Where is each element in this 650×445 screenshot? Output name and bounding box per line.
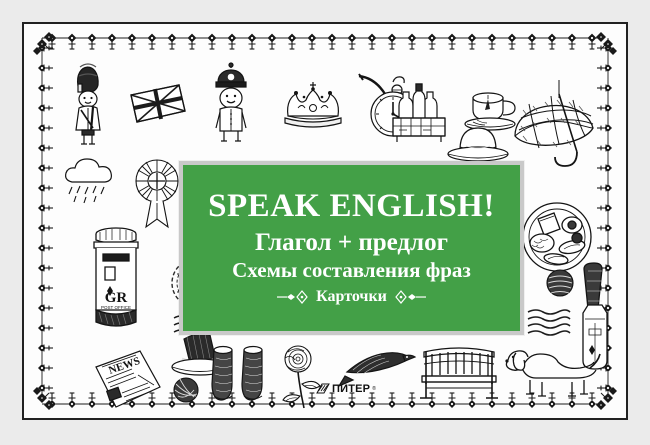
publisher-trademark: ®	[372, 387, 376, 392]
publisher-logo: ПИТЕР ®	[316, 383, 376, 395]
cricket-bat-icon	[572, 259, 620, 383]
newspaper-icon: NEWS	[92, 349, 164, 411]
title-stack: SPEAK ENGLISH! Глагол + предлог Схемы со…	[183, 190, 520, 306]
post-box-icon: GR POST OFFICE	[84, 224, 148, 334]
publisher-name: ПИТЕР	[332, 384, 370, 395]
border-ornament-top	[38, 33, 612, 53]
milk-bottles-icon	[389, 84, 449, 146]
border-corner-bottom-right	[593, 385, 619, 411]
cricket-ball-icon	[545, 268, 575, 298]
kicker-label: Карточки	[316, 288, 387, 306]
queens-guard-icon	[62, 52, 114, 148]
subtitle-primary: Глагол + предлог	[183, 230, 520, 256]
wellington-boots-icon	[206, 344, 278, 410]
right-flourish-ornament	[394, 290, 428, 304]
border-ornament-left	[33, 38, 53, 404]
cover-paper: GR POST OFFICE LONDON 5 AUG	[24, 24, 626, 418]
post-box-subtext: POST OFFICE	[101, 305, 131, 310]
tea-cup-icon	[459, 82, 525, 134]
wavy-cancellation-icon	[526, 307, 572, 341]
yarn-ball-icon	[172, 376, 200, 404]
border-ornament-right	[597, 38, 617, 404]
rosette-icon	[127, 157, 187, 233]
book-cover: GR POST OFFICE LONDON 5 AUG	[0, 0, 650, 445]
top-hat-icon	[168, 331, 236, 381]
dachshund-dog-icon	[502, 344, 602, 400]
crown-icon	[280, 80, 346, 132]
post-box-monogram: GR	[105, 290, 128, 306]
piter-flag-logo-icon	[316, 383, 330, 395]
newspaper-masthead: NEWS	[107, 355, 142, 377]
rain-cloud-icon	[60, 154, 122, 206]
rose-icon	[274, 344, 332, 410]
english-breakfast-icon	[514, 199, 600, 275]
title-panel: SPEAK ENGLISH! Глагол + предлог Схемы со…	[179, 161, 524, 335]
border-corner-top-left	[31, 31, 57, 57]
subtitle-secondary: Схемы составления фраз	[183, 259, 520, 281]
bobby-policeman-icon	[204, 60, 258, 148]
cover-frame: GR POST OFFICE LONDON 5 AUG	[22, 22, 628, 420]
union-jack-flag-icon	[127, 81, 189, 127]
left-flourish-ornament	[275, 290, 309, 304]
border-corner-top-right	[593, 31, 619, 57]
park-bench-icon	[416, 344, 502, 402]
border-corner-bottom-left	[31, 385, 57, 411]
kicker-row: Карточки	[183, 288, 520, 306]
page-title: SPEAK ENGLISH!	[183, 190, 520, 224]
big-ben-clock-icon	[353, 68, 417, 140]
